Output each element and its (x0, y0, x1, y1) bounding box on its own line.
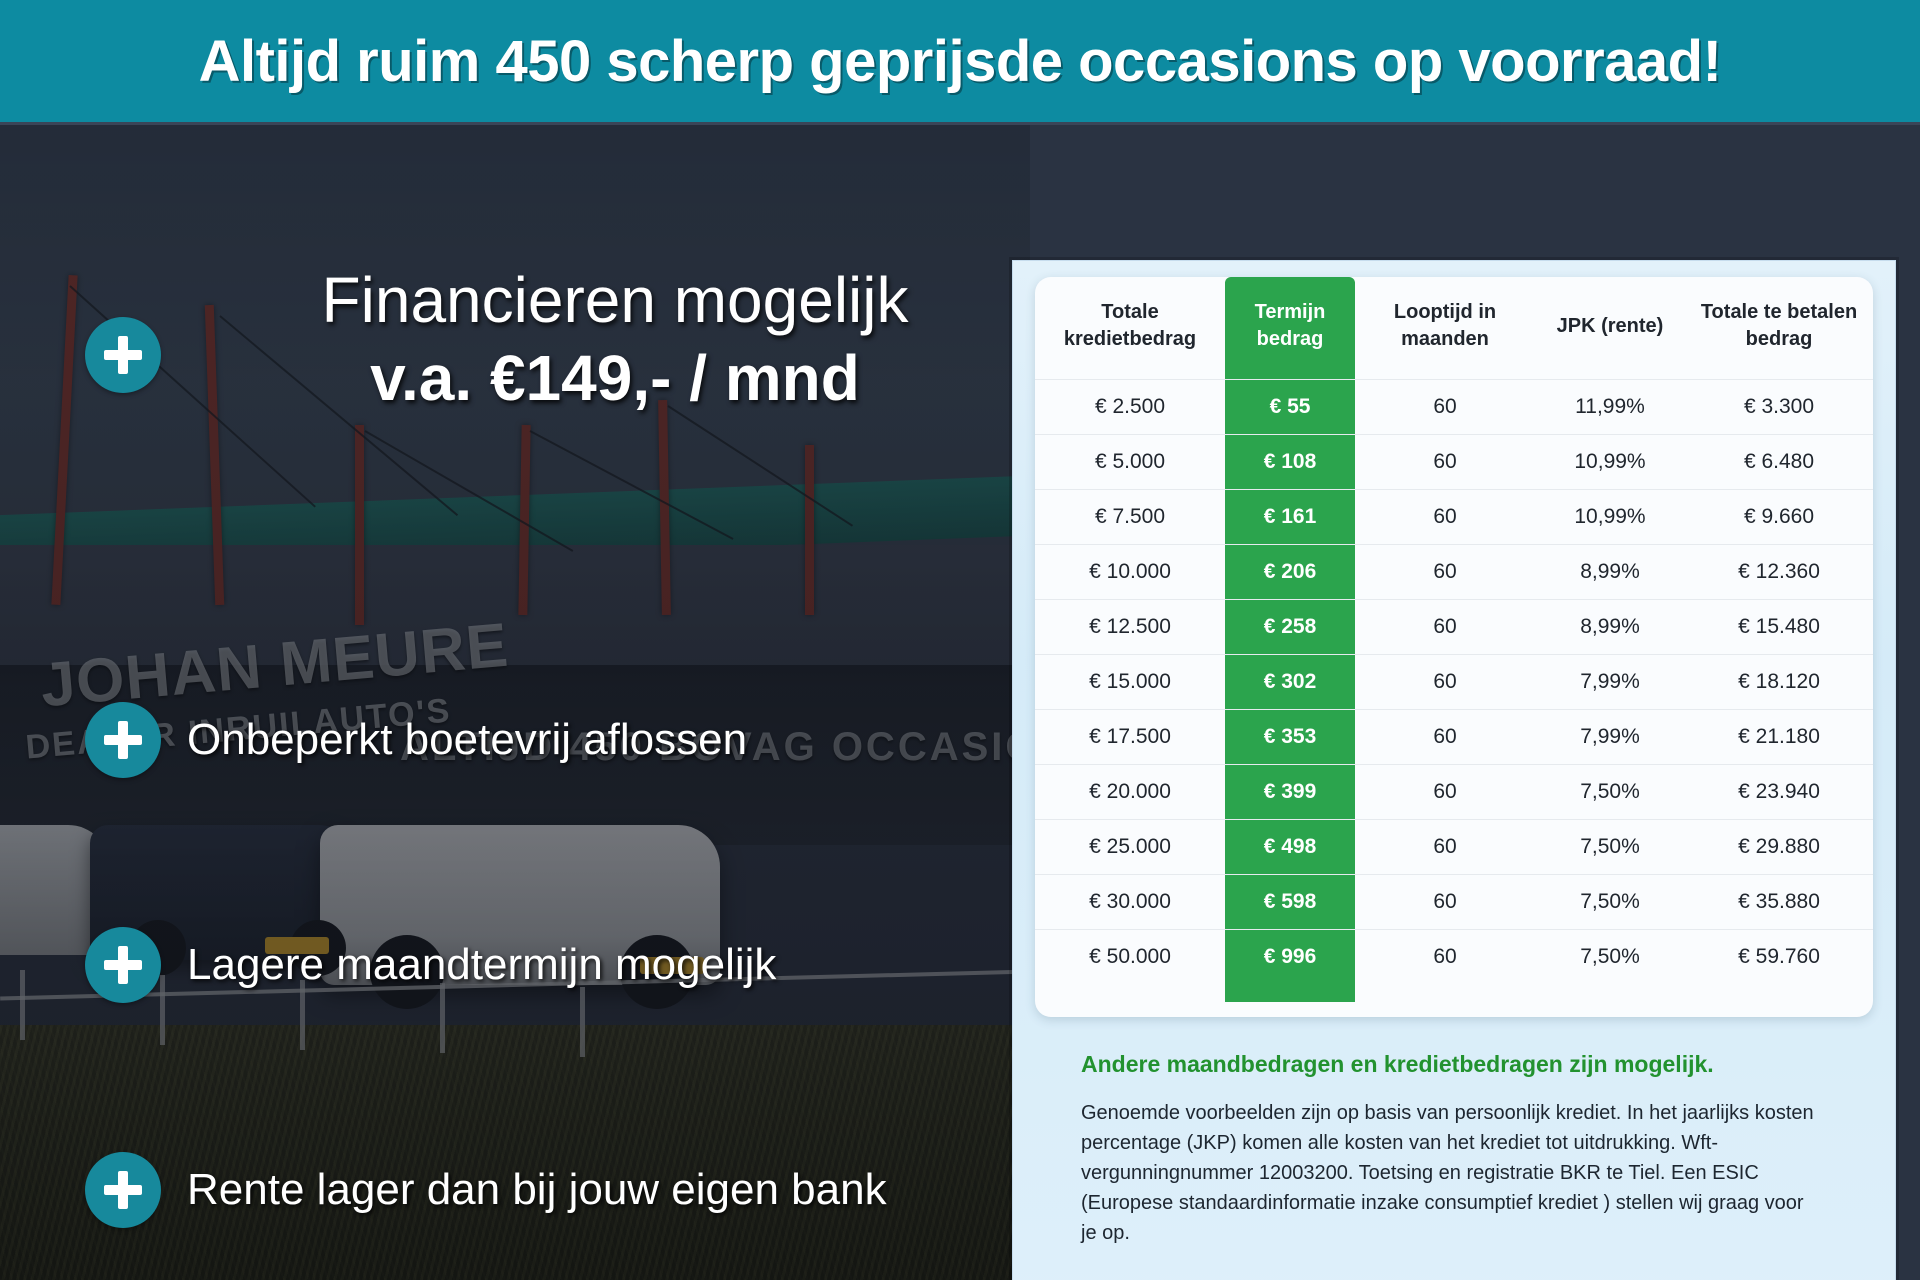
page-title: Financieren mogelijk v.a. €149,- / mnd (215, 267, 1015, 416)
rate-table-card: Totale kredietbedrag Termijn bedrag Loop… (1035, 277, 1873, 1017)
cell-krediet: € 5.000 (1035, 435, 1225, 490)
cell-jpk: 7,50% (1535, 875, 1685, 930)
cell-termijn: € 598 (1225, 875, 1355, 930)
top-banner: Altijd ruim 450 scherp geprijsde occasio… (0, 0, 1920, 122)
cell-looptijd: 60 (1355, 875, 1535, 930)
table-row: € 17.500€ 353607,99%€ 21.180 (1035, 710, 1873, 765)
cell-jpk: 7,99% (1535, 710, 1685, 765)
plus-icon (85, 317, 161, 393)
feature-label: Rente lager dan bij jouw eigen bank (187, 1165, 887, 1215)
cell-krediet: € 10.000 (1035, 545, 1225, 600)
cell-termijn: € 161 (1225, 490, 1355, 545)
cell-totaal: € 15.480 (1685, 600, 1873, 655)
cell-jpk: 10,99% (1535, 490, 1685, 545)
cell-krediet: € 15.000 (1035, 655, 1225, 710)
cell-jpk: 7,50% (1535, 820, 1685, 875)
cell-totaal: € 12.360 (1685, 545, 1873, 600)
cell-termijn: € 55 (1225, 380, 1355, 435)
headline-block (85, 317, 161, 393)
cell-looptijd: 60 (1355, 820, 1535, 875)
cell-looptijd: 60 (1355, 490, 1535, 545)
cell-jpk: 7,50% (1535, 930, 1685, 985)
cell-krediet: € 2.500 (1035, 380, 1225, 435)
cell-looptijd: 60 (1355, 710, 1535, 765)
cell-krediet: € 12.500 (1035, 600, 1225, 655)
disclaimer-body: Genoemde voorbeelden zijn op basis van p… (1081, 1098, 1821, 1248)
financing-panel: Totale kredietbedrag Termijn bedrag Loop… (1012, 260, 1896, 1280)
cell-looptijd: 60 (1355, 545, 1535, 600)
column-header-krediet: Totale kredietbedrag (1035, 277, 1225, 380)
body-area: DEALER INRUILAUTO'S JOHAN MEURE ALTIJD 4… (0, 122, 1920, 1280)
cell-krediet: € 30.000 (1035, 875, 1225, 930)
cell-totaal: € 21.180 (1685, 710, 1873, 765)
feature-item-1: Onbeperkt boetevrij aflossen (85, 702, 747, 778)
feature-list: Financieren mogelijk v.a. €149,- / mnd O… (0, 247, 1030, 1280)
table-header-row: Totale kredietbedrag Termijn bedrag Loop… (1035, 277, 1873, 380)
cell-totaal: € 29.880 (1685, 820, 1873, 875)
column-header-jpk: JPK (rente) (1535, 277, 1685, 380)
cell-termijn: € 302 (1225, 655, 1355, 710)
cell-totaal: € 23.940 (1685, 765, 1873, 820)
cell-krediet: € 20.000 (1035, 765, 1225, 820)
headline-line-2: v.a. €149,- / mnd (215, 342, 1015, 416)
cell-looptijd: 60 (1355, 435, 1535, 490)
cell-termijn: € 498 (1225, 820, 1355, 875)
cell-krediet: € 7.500 (1035, 490, 1225, 545)
cell-totaal: € 59.760 (1685, 930, 1873, 985)
cell-termijn: € 996 (1225, 930, 1355, 985)
cell-totaal: € 3.300 (1685, 380, 1873, 435)
feature-label: Onbeperkt boetevrij aflossen (187, 715, 747, 765)
plus-icon (85, 1152, 161, 1228)
feature-item-2: Lagere maandtermijn mogelijk (85, 927, 776, 1003)
feature-label: Lagere maandtermijn mogelijk (187, 940, 776, 990)
cell-jpk: 8,99% (1535, 600, 1685, 655)
cell-termijn: € 353 (1225, 710, 1355, 765)
disclaimer-block: Andere maandbedragen en kredietbedragen … (1081, 1051, 1821, 1248)
cell-totaal: € 18.120 (1685, 655, 1873, 710)
cell-termijn: € 108 (1225, 435, 1355, 490)
cell-jpk: 8,99% (1535, 545, 1685, 600)
cell-looptijd: 60 (1355, 600, 1535, 655)
table-row: € 7.500€ 1616010,99%€ 9.660 (1035, 490, 1873, 545)
table-row: € 15.000€ 302607,99%€ 18.120 (1035, 655, 1873, 710)
cell-totaal: € 6.480 (1685, 435, 1873, 490)
disclaimer-title: Andere maandbedragen en kredietbedragen … (1081, 1051, 1821, 1078)
cell-looptijd: 60 (1355, 655, 1535, 710)
rate-table-body: € 2.500€ 556011,99%€ 3.300€ 5.000€ 10860… (1035, 380, 1873, 985)
banner-headline: Altijd ruim 450 scherp geprijsde occasio… (199, 28, 1722, 95)
rate-table: Totale kredietbedrag Termijn bedrag Loop… (1035, 277, 1873, 984)
headline-line-1: Financieren mogelijk (215, 267, 1015, 334)
cell-jpk: 7,99% (1535, 655, 1685, 710)
column-header-totaal: Totale te betalen bedrag (1685, 277, 1873, 380)
table-row: € 25.000€ 498607,50%€ 29.880 (1035, 820, 1873, 875)
plus-icon (85, 927, 161, 1003)
cell-looptijd: 60 (1355, 930, 1535, 985)
table-row: € 20.000€ 399607,50%€ 23.940 (1035, 765, 1873, 820)
column-header-looptijd: Looptijd in maanden (1355, 277, 1535, 380)
plus-icon (85, 702, 161, 778)
cell-termijn: € 206 (1225, 545, 1355, 600)
cell-jpk: 7,50% (1535, 765, 1685, 820)
cell-jpk: 10,99% (1535, 435, 1685, 490)
column-header-termijn: Termijn bedrag (1225, 277, 1355, 380)
cell-looptijd: 60 (1355, 765, 1535, 820)
cell-totaal: € 9.660 (1685, 490, 1873, 545)
cell-termijn: € 258 (1225, 600, 1355, 655)
cell-jpk: 11,99% (1535, 380, 1685, 435)
cell-krediet: € 25.000 (1035, 820, 1225, 875)
feature-item-3: Rente lager dan bij jouw eigen bank (85, 1152, 887, 1228)
cell-termijn: € 399 (1225, 765, 1355, 820)
table-row: € 50.000€ 996607,50%€ 59.760 (1035, 930, 1873, 985)
cell-totaal: € 35.880 (1685, 875, 1873, 930)
table-row: € 2.500€ 556011,99%€ 3.300 (1035, 380, 1873, 435)
table-row: € 12.500€ 258608,99%€ 15.480 (1035, 600, 1873, 655)
advertisement-banner: Altijd ruim 450 scherp geprijsde occasio… (0, 0, 1920, 1280)
cell-krediet: € 50.000 (1035, 930, 1225, 985)
table-row: € 30.000€ 598607,50%€ 35.880 (1035, 875, 1873, 930)
table-row: € 10.000€ 206608,99%€ 12.360 (1035, 545, 1873, 600)
cell-krediet: € 17.500 (1035, 710, 1225, 765)
cell-looptijd: 60 (1355, 380, 1535, 435)
table-row: € 5.000€ 1086010,99%€ 6.480 (1035, 435, 1873, 490)
